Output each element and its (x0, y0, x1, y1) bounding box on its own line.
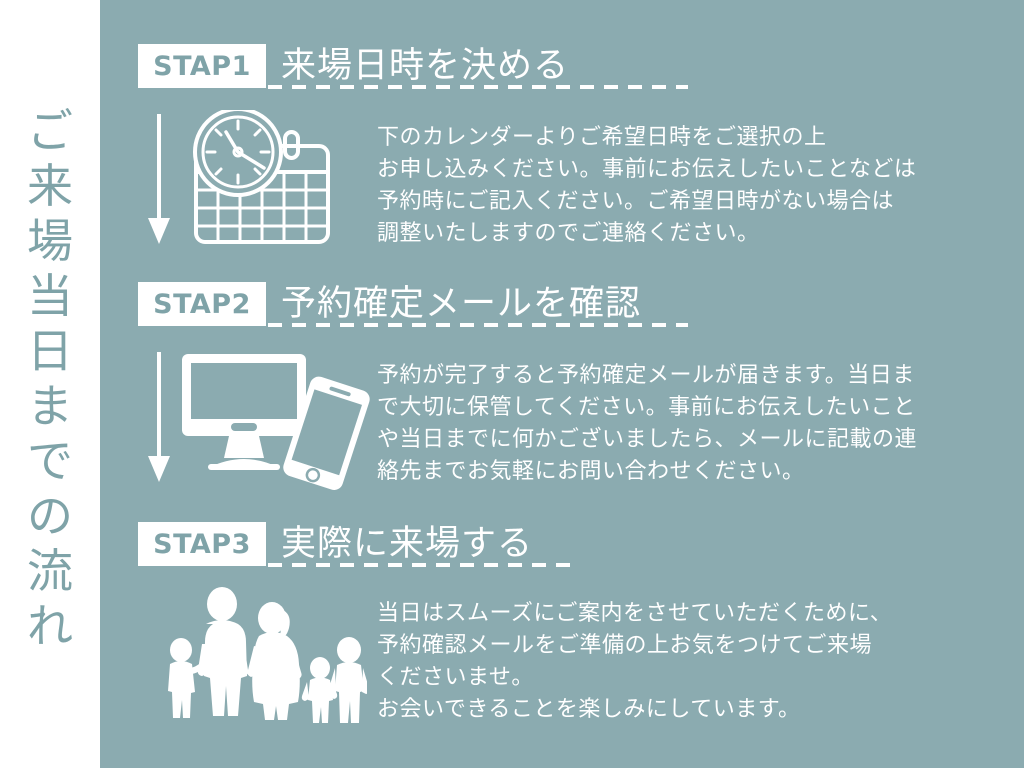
vertical-title-char: れ (27, 599, 73, 654)
step-badge-2: STAP2 (138, 282, 266, 326)
family-silhouette-icon (152, 578, 367, 723)
step-body-1: 下のカレンダーよりご希望日時をご選択の上 お申し込みください。事前にお伝えしたい… (377, 122, 916, 250)
step-divider-3 (268, 563, 580, 567)
page-title-vertical: ご 来 場 当 日 ま で の 流 れ (0, 104, 100, 654)
step-badge-3: STAP3 (138, 522, 266, 566)
step-header-1: STAP1 来場日時を決める (138, 44, 569, 88)
step-divider-1 (268, 85, 688, 89)
down-arrow-icon-1 (146, 114, 172, 246)
step-badge-1: STAP1 (138, 44, 266, 88)
vertical-title-char: ご (27, 104, 73, 159)
vertical-title-char: で (27, 434, 73, 489)
vertical-title-char: 来 (27, 159, 73, 214)
step-title-2: 予約確定メールを確認 (281, 282, 641, 326)
sidebar: ご 来 場 当 日 ま で の 流 れ (0, 0, 100, 768)
monitor-smartphone-icon (174, 350, 374, 490)
step-title-3: 実際に来場する (281, 522, 533, 566)
main-panel: STAP1 来場日時を決める (100, 0, 1024, 768)
step-body-2: 予約が完了すると予約確定メールが届きます。当日ま で大切に保管してください。事前… (377, 360, 917, 488)
vertical-title-char: 日 (27, 324, 73, 379)
step-header-3: STAP3 実際に来場する (138, 522, 533, 566)
step-body-3: 当日はスムーズにご案内をさせていただくために、 予約確認メールをご準備の上お気を… (377, 598, 892, 726)
vertical-title-char: 当 (27, 269, 73, 324)
step-title-1: 来場日時を決める (281, 44, 569, 88)
step-header-2: STAP2 予約確定メールを確認 (138, 282, 641, 326)
vertical-title-char: 流 (27, 544, 73, 599)
clock-calendar-icon (178, 110, 368, 250)
vertical-title-char: ま (27, 379, 73, 434)
step-divider-2 (268, 323, 688, 327)
vertical-title-char: の (27, 489, 73, 544)
vertical-title-char: 場 (27, 214, 73, 269)
down-arrow-icon-2 (146, 352, 172, 484)
flow-infographic-page: ご 来 場 当 日 ま で の 流 れ STAP1 来場日時を決める (0, 0, 1024, 768)
